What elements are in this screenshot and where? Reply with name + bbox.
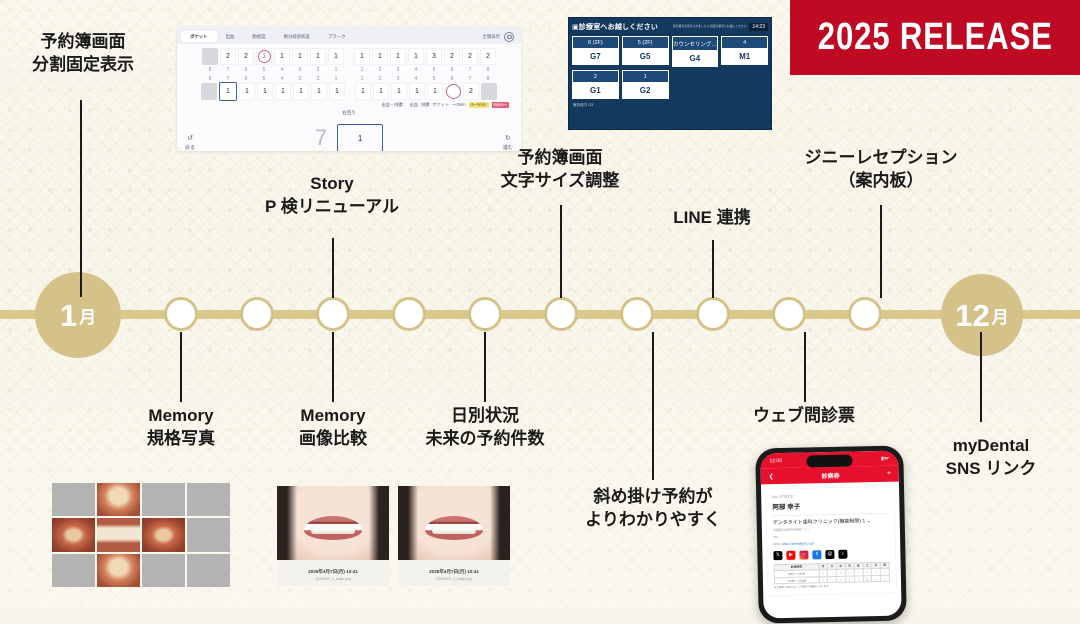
photo-cell-empty[interactable] [142, 483, 185, 516]
memory-photo-grid [52, 483, 230, 587]
hours-cell: ○ [828, 576, 837, 583]
photo-cell-empty[interactable] [187, 483, 230, 516]
face-caption: 2025年4月7日(月) 10:41 20250407_1_smile.png [277, 560, 389, 581]
hours-cell: ○ [837, 576, 846, 583]
label-line-renkei: LINE 連携 [632, 206, 792, 229]
label-line1: 日別状況 [400, 404, 570, 427]
phone-nav-title: 診察券 [821, 470, 839, 479]
face-caption: 2025年4月7日(月) 10:41 20250407_2_smile.png [398, 560, 510, 581]
label-line2: 規格写真 [106, 427, 256, 450]
label-line1: ジニーレセプション [786, 146, 976, 169]
hours-cell: / [845, 576, 854, 583]
label-line2: 文字サイズ調整 [480, 169, 640, 192]
label-line1: 予約簿画面 [8, 30, 158, 53]
threads-icon[interactable]: @ [825, 550, 834, 559]
label-line1: Story [232, 172, 432, 195]
photo-cell-empty[interactable] [52, 554, 95, 587]
photo-cell-upper-occlusal[interactable] [97, 483, 140, 516]
photo-cell-empty[interactable] [142, 554, 185, 587]
face-hair-left [398, 486, 418, 560]
instagram-icon[interactable]: ○ [799, 550, 808, 559]
plus-icon[interactable]: + [887, 471, 891, 477]
face-compare-card-before: 2025年4月7日(月) 10:41 20250407_1_smile.png [277, 486, 389, 586]
label-line2: 未来の予約件数 [400, 427, 570, 450]
label-web-monshin: ウェブ問診票 [724, 404, 884, 427]
card-clinic-name[interactable]: デンタライト歯科クリニック(機能制限) 1 ⌄ [773, 517, 889, 526]
table-row: 14:30 ～ 19:00 ○ ○ ○ / ○ △ / / [774, 575, 889, 584]
label-memory-kikaku: Memory 規格写真 [106, 404, 256, 451]
clinic-hours-table: 診療時間 月 火 水 木 金 土 日 祝 9:00 ～ 13:00 ○ ○ [774, 561, 890, 584]
label-naname-yoyaku: 斜め掛け予約が よりわかりやすく [568, 485, 738, 532]
label-line1: ウェブ問診票 [724, 404, 884, 427]
divider [773, 513, 889, 516]
youtube-icon[interactable]: ▶ [786, 550, 795, 559]
label-mydental-sns: myDental SNS リンク [906, 434, 1076, 481]
face-date: 2025年4月7日(月) 10:41 [277, 569, 389, 575]
photo-cell-empty[interactable] [52, 483, 95, 516]
hours-cell: △ [863, 575, 872, 582]
label-line1: myDental [906, 434, 1076, 457]
face-hair-right [490, 486, 510, 560]
phone-nav-bar: ❮ 診察券 + [761, 466, 899, 485]
photo-cell-lower-occlusal[interactable] [97, 554, 140, 587]
face-date: 2025年4月7日(月) 10:41 [398, 569, 510, 575]
hours-cell: / [880, 575, 889, 582]
photo-cell-frontal-selected[interactable] [97, 518, 140, 551]
label-line1: 斜め掛け予約が [568, 485, 738, 508]
tiktok-icon[interactable]: ♪ [838, 549, 847, 558]
face-teeth [432, 525, 476, 534]
face-compare-card-after: 2025年4月7日(月) 10:41 20250407_2_smile.png [398, 486, 510, 586]
hours-cell: ○ [819, 576, 828, 583]
photo-cell-empty[interactable] [187, 518, 230, 551]
hours-cell: ○ [854, 576, 863, 583]
label-yoyakubo-bunkatsu: 予約簿画面 分割固定表示 [8, 30, 158, 77]
hours-cell: / [872, 575, 881, 582]
chevron-left-icon[interactable]: ❮ [769, 473, 774, 480]
phone-screen: 12:00 ▮▾■ ❮ 診察券 + No. 370002 阿部 幸子 デンタライ… [760, 451, 901, 619]
label-yoyakubo-moji: 予約簿画面 文字サイズ調整 [480, 146, 640, 193]
photo-cell-empty[interactable] [187, 554, 230, 587]
sns-link-row: 𝕏 ▶ ○ f @ ♪ [773, 548, 889, 559]
card-tel: TEL: [773, 533, 889, 540]
label-line2: 画像比較 [258, 427, 408, 450]
patient-card: No. 370002 阿部 幸子 デンタライト歯科クリニック(機能制限) 1 ⌄… [766, 487, 896, 596]
label-line2: よりわかりやすく [568, 508, 738, 531]
hours-cell: 14:30 ～ 19:00 [774, 577, 819, 585]
label-story-pken: Story P 検リニューアル [232, 172, 432, 219]
label-line2: P 検リニューアル [232, 195, 432, 218]
phone-body: 12:00 ▮▾■ ❮ 診察券 + No. 370002 阿部 幸子 デンタライ… [755, 445, 907, 623]
card-address: 大阪府大阪市中央区◯◯ [773, 526, 889, 533]
card-web: WEB: https://dentalight.co.jp/ [773, 540, 889, 547]
label-line1: Memory [106, 404, 256, 427]
card-web-label: WEB: [773, 542, 781, 546]
chevron-down-icon[interactable]: ⌄ [867, 518, 871, 524]
facebook-icon[interactable]: f [812, 550, 821, 559]
face-filename: 20250407_1_smile.png [277, 577, 389, 581]
label-nichibetsu: 日別状況 未来の予約件数 [400, 404, 570, 451]
label-genie-reception: ジニーレセプション （案内板） [786, 146, 976, 193]
phone-mockup: 12:00 ▮▾■ ❮ 診察券 + No. 370002 阿部 幸子 デンタライ… [755, 445, 907, 623]
card-color-swatch [887, 458, 891, 463]
label-line2: 分割固定表示 [8, 53, 158, 76]
face-photo[interactable] [398, 486, 510, 560]
label-line2: （案内板） [786, 169, 976, 192]
label-line1: LINE 連携 [632, 206, 792, 229]
label-memory-hikaku: Memory 画像比較 [258, 404, 408, 451]
card-number: No. 370002 [772, 492, 888, 499]
card-web-url[interactable]: https://dentalight.co.jp/ [782, 541, 814, 546]
face-teeth [311, 525, 355, 534]
label-line2: SNS リンク [906, 457, 1076, 480]
card-patient-name: 阿部 幸子 [772, 499, 888, 511]
phone-notch [806, 455, 852, 468]
label-line1: Memory [258, 404, 408, 427]
face-filename: 20250407_2_smile.png [398, 577, 510, 581]
clinic-hours-note: ※土曜日 午前のみ／ご予約の方優先となります [774, 584, 890, 590]
face-photo[interactable] [277, 486, 389, 560]
face-hair-left [277, 486, 297, 560]
status-time: 12:00 [769, 458, 782, 464]
card-clinic-text: デンタライト歯科クリニック(機能制限) 1 [773, 518, 866, 526]
photo-cell-right-buccal[interactable] [142, 518, 185, 551]
x-icon[interactable]: 𝕏 [773, 551, 782, 560]
label-line1: 予約簿画面 [480, 146, 640, 169]
photo-cell-left-buccal[interactable] [52, 518, 95, 551]
face-hair-right [369, 486, 389, 560]
